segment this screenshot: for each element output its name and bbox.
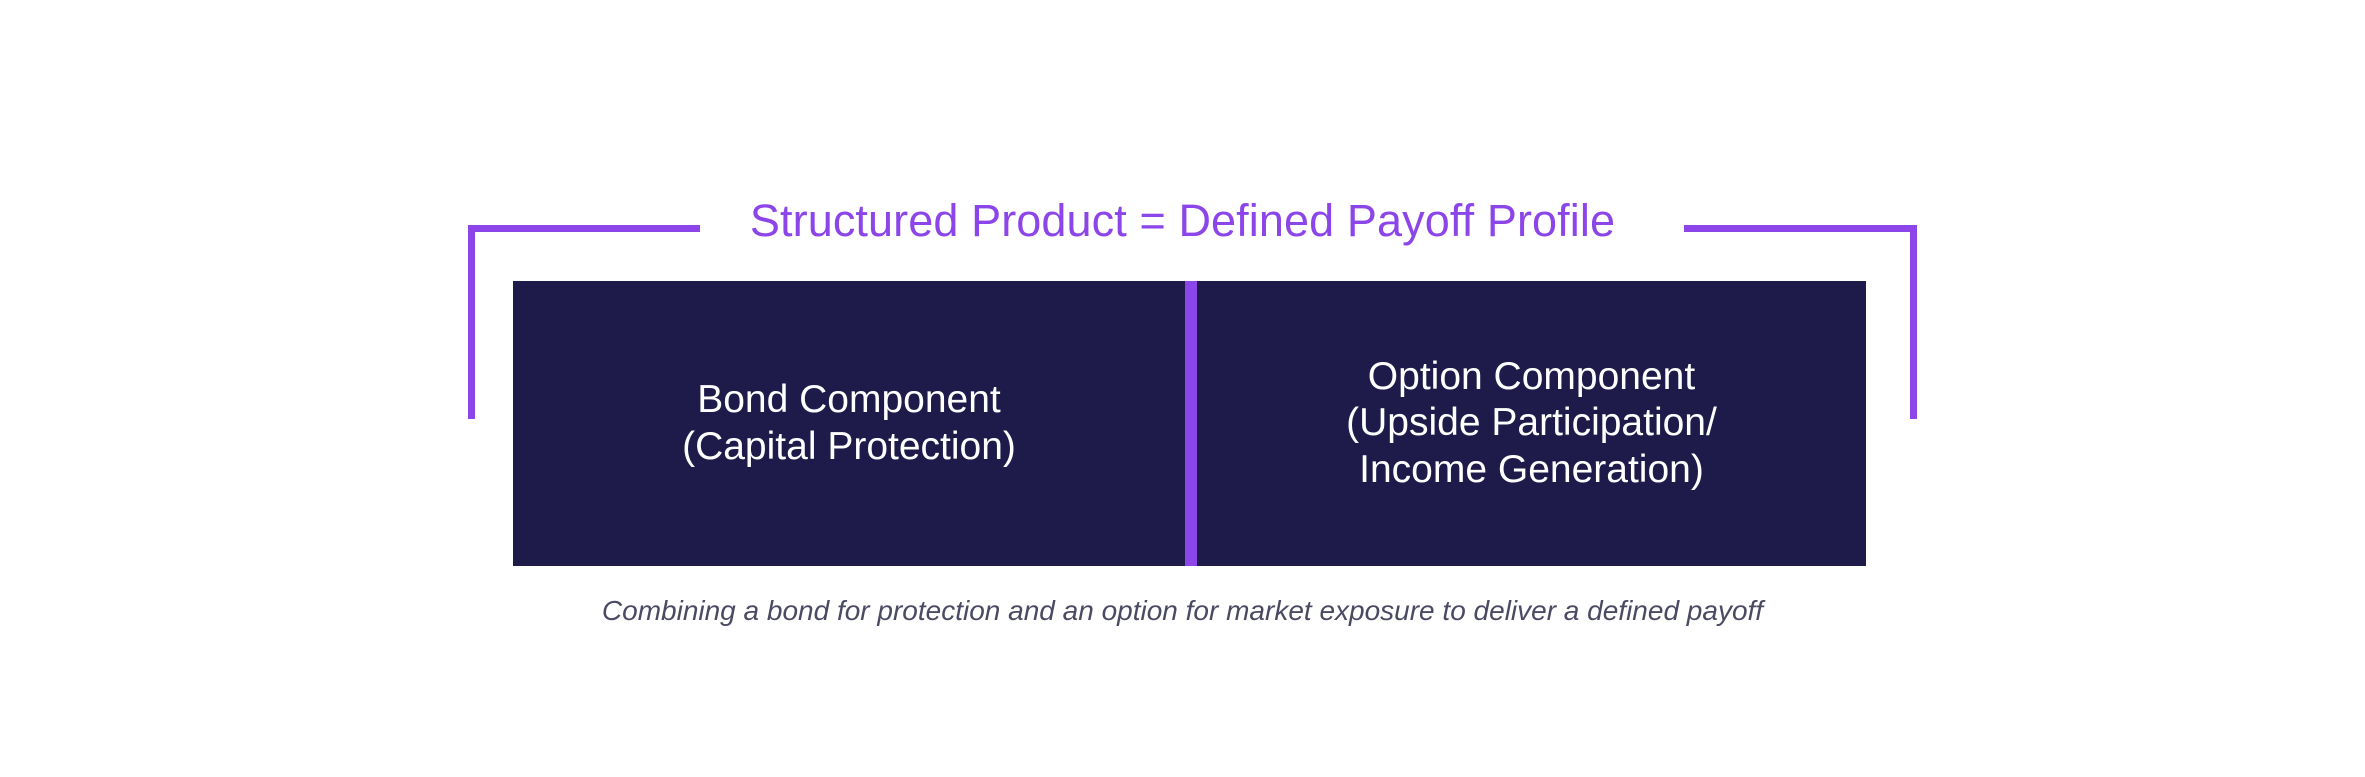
option-component-cell: Option Component (Upside Participation/ …: [1197, 281, 1866, 566]
diagram-canvas: Structured Product = Defined Payoff Prof…: [0, 0, 2365, 777]
structured-product-box: Bond Component (Capital Protection) Opti…: [513, 281, 1866, 566]
bond-component-cell: Bond Component (Capital Protection): [513, 281, 1185, 566]
diagram-caption: Combining a bond for protection and an o…: [0, 594, 2365, 628]
option-component-label: Option Component (Upside Participation/ …: [1346, 354, 1717, 492]
bracket-stem-left: [468, 225, 475, 419]
component-divider: [1185, 281, 1197, 566]
bond-component-label: Bond Component (Capital Protection): [682, 377, 1016, 469]
bracket-stem-right: [1910, 225, 1917, 419]
diagram-title: Structured Product = Defined Payoff Prof…: [0, 198, 2365, 243]
